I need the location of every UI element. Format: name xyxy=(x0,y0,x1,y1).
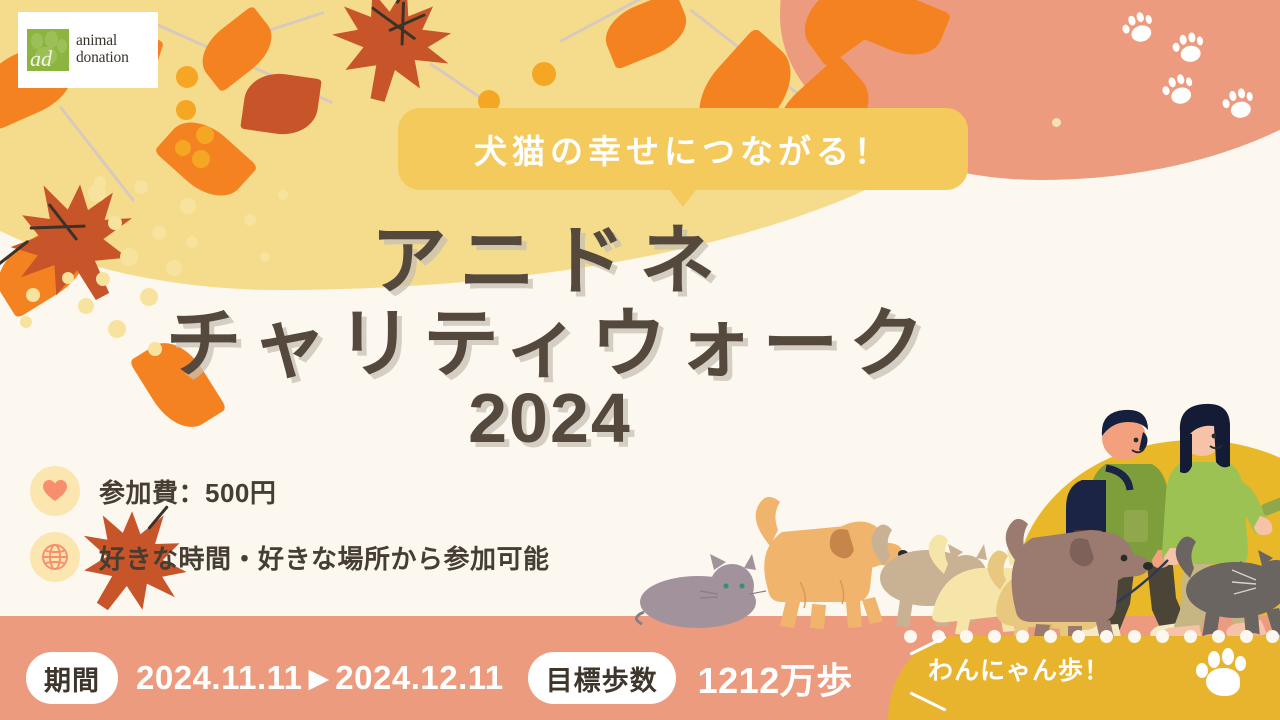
paw-print-icon xyxy=(1196,648,1248,698)
leaf-decoration xyxy=(851,0,952,66)
tagline-speech-bubble: 犬猫の幸せにつながる！ xyxy=(398,108,968,190)
heart-icon xyxy=(30,466,80,516)
arrow-right-icon: ▶ xyxy=(309,663,330,694)
paw-print-icon xyxy=(1158,70,1199,111)
leaf-decoration xyxy=(791,0,901,67)
globe-icon xyxy=(30,532,80,582)
list-item: 参加費：500円 xyxy=(30,466,550,516)
goal-label: 目標歩数 xyxy=(546,659,658,698)
paw-print-icon xyxy=(1219,85,1258,124)
title-line-2: チャリティウォーク xyxy=(0,305,1100,384)
period-end-date: 2024.12.11 xyxy=(335,659,503,697)
title-year: 2024 xyxy=(0,382,1100,455)
cat-grey-lying xyxy=(636,554,766,628)
logo-line-1: animal xyxy=(76,33,129,50)
title-line-1: アニドネ xyxy=(0,222,1100,301)
event-details-list: 参加費：500円 好きな時間・好きな場所から参加可能 xyxy=(30,466,550,582)
speech-bubble-tail xyxy=(670,190,696,207)
paw-print-icon xyxy=(1118,8,1160,50)
period-label-pill: 期間 xyxy=(26,652,118,704)
leaf-decoration xyxy=(240,69,322,139)
list-item-label: 好きな時間・好きな場所から参加可能 xyxy=(99,539,550,576)
logo-wordmark: animal donation xyxy=(76,33,129,66)
promo-banner: ad animal donation 犬猫の幸せにつながる！ アニドネ チャリテ… xyxy=(0,0,1280,720)
list-item: 好きな時間・好きな場所から参加可能 xyxy=(30,532,550,582)
paw-print-icon xyxy=(1170,30,1208,68)
bottom-tagline: わんにゃん歩！ xyxy=(928,651,1110,687)
maple-leaf-decoration xyxy=(319,0,464,115)
tagline-speech-bubble-text: 犬猫の幸せにつながる！ xyxy=(474,125,892,173)
logo-mark-text: ad xyxy=(30,48,52,70)
period-label: 期間 xyxy=(44,659,100,698)
page-title: アニドネ チャリティウォーク 2024 xyxy=(0,222,1100,455)
logo-mark-icon: ad xyxy=(27,29,69,71)
brand-logo[interactable]: ad animal donation xyxy=(18,12,158,88)
leaf-decoration xyxy=(597,0,694,70)
leaf-decoration xyxy=(191,5,283,92)
leaf-decoration xyxy=(154,108,258,210)
logo-line-2: donation xyxy=(76,50,129,67)
goal-label-pill: 目標歩数 xyxy=(528,652,676,704)
list-item-label: 参加費：500円 xyxy=(99,473,276,510)
goal-step-count: 1212万歩 xyxy=(698,652,853,704)
period-start-date: 2024.11.11 xyxy=(136,659,303,697)
